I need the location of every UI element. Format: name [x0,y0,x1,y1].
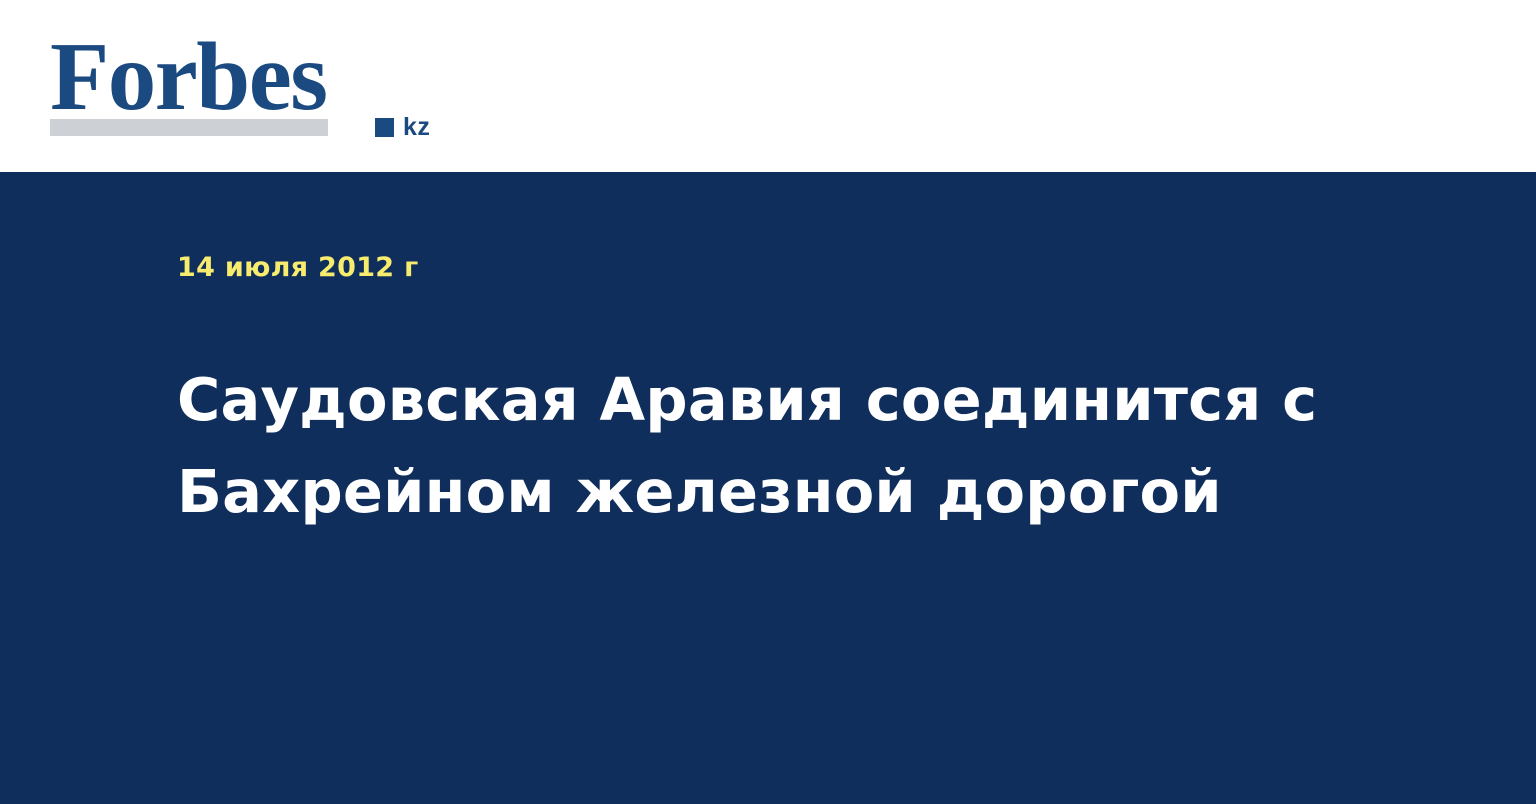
article-publish-date: 14 июля 2012 г [177,252,419,284]
forbes-wordmark: Forbes [50,28,327,125]
article-hero-page: Forbes kz 14 июля 2012 г Саудовская Арав… [0,0,1536,804]
forbes-kz-logo[interactable]: Forbes kz [50,28,420,146]
logo-square-icon [375,118,394,137]
logo-kz-suffix: kz [403,115,430,140]
site-masthead: Forbes kz [0,0,1536,172]
article-headline: Саудовская Аравия соединится с Бахрейном… [177,354,1362,538]
article-hero-banner: 14 июля 2012 г Саудовская Аравия соедини… [0,172,1536,804]
logo-underline-rule [50,119,328,136]
